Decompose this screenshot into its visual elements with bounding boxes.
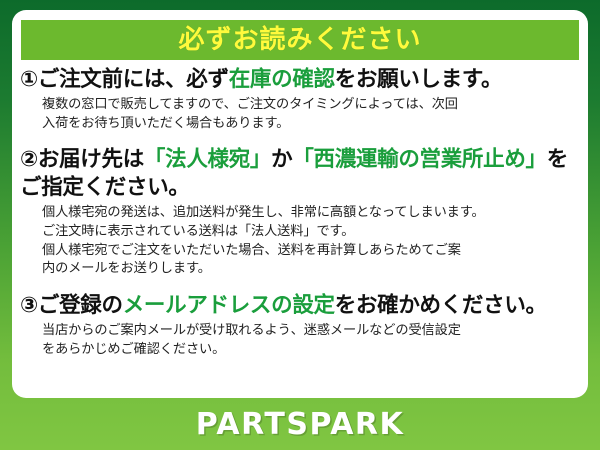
notice-item-1-marker: ① xyxy=(20,67,38,92)
notice-content: ①ご注文前には、必ず在庫の確認をお願いします。 複数の窓口で販売してますので、ご… xyxy=(12,65,588,362)
notice-item-1-heading-highlight: 在庫の確認 xyxy=(229,67,335,92)
notice-item-2-heading-highlight-1: 「法人様宛」 xyxy=(144,147,271,172)
notice-item-2-note-line-0: 個人様宅宛の発送は、追加送料が発生し、非常に高額となってしまいます。 xyxy=(42,204,582,223)
page-title: 必ずお読みください xyxy=(178,27,421,53)
notice-item-1-note-line-1: 入荷をお待ち頂いただく場合もあります。 xyxy=(42,115,582,134)
notice-item-1-heading: ①ご注文前には、必ず在庫の確認をお願いします。 xyxy=(20,66,582,94)
notice-item-3: ③ご登録のメールアドレスの設定をお確かめください。 当店からのご案内メールが受け… xyxy=(20,292,582,359)
header-bar: 必ずお読みください xyxy=(21,20,579,60)
notice-item-3-heading-part-0: ご登録の xyxy=(38,293,123,318)
notice-item-2-heading-part-0: お届け先は xyxy=(38,147,144,172)
notice-panel: 必ずお読みください ①ご注文前には、必ず在庫の確認をお願いします。 複数の窓口で… xyxy=(12,10,588,398)
notice-item-2-note-line-1: ご注文時に表示されている送料は「法人送料」です。 xyxy=(42,223,582,242)
notice-item-1-note: 複数の窓口で販売してますので、ご注文のタイミングによっては、次回 入荷をお待ち頂… xyxy=(42,96,582,133)
notice-item-1-heading-part-0: ご注文前には、必ず xyxy=(38,67,229,92)
notice-item-1: ①ご注文前には、必ず在庫の確認をお願いします。 複数の窓口で販売してますので、ご… xyxy=(20,66,582,133)
notice-item-3-heading-highlight: メールアドレスの設定 xyxy=(123,293,335,318)
notice-item-3-heading: ③ご登録のメールアドレスの設定をお確かめください。 xyxy=(20,292,582,320)
notice-item-2-note-line-2: 個人様宅宛でご注文をいただいた場合、送料を再計算しあらためてご案 xyxy=(42,242,582,261)
notice-item-2-heading-part-2: か xyxy=(271,147,292,172)
notice-item-2-heading-highlight-2: 「西濃運輸の営業所止め」 xyxy=(292,147,546,172)
notice-item-3-note-line-1: をあらかじめご確認ください。 xyxy=(42,341,582,360)
notice-item-1-heading-part-2: をお願いします。 xyxy=(335,67,502,92)
notice-item-2: ②お届け先は「法人様宛」か「西濃運輸の営業所止め」をご指定ください。 個人様宅宛… xyxy=(20,146,582,279)
notice-item-3-heading-part-2: をお確かめください。 xyxy=(335,293,547,318)
notice-item-3-marker: ③ xyxy=(20,293,38,318)
notice-item-2-note: 個人様宅宛の発送は、追加送料が発生し、非常に高額となってしまいます。 ご注文時に… xyxy=(42,204,582,279)
notice-item-1-note-line-0: 複数の窓口で販売してますので、ご注文のタイミングによっては、次回 xyxy=(42,96,582,115)
footer-band: PARTSPARK xyxy=(0,398,600,450)
notice-item-2-heading: ②お届け先は「法人様宛」か「西濃運輸の営業所止め」をご指定ください。 xyxy=(20,146,582,202)
notice-item-2-note-line-3: 内のメールをお送りします。 xyxy=(42,260,582,279)
brand-logo: PARTSPARK xyxy=(196,407,405,442)
notice-item-2-marker: ② xyxy=(20,147,38,172)
notice-item-3-note: 当店からのご案内メールが受け取れるよう、迷惑メールなどの受信設定 をあらかじめご… xyxy=(42,322,582,359)
notice-item-3-note-line-0: 当店からのご案内メールが受け取れるよう、迷惑メールなどの受信設定 xyxy=(42,322,582,341)
